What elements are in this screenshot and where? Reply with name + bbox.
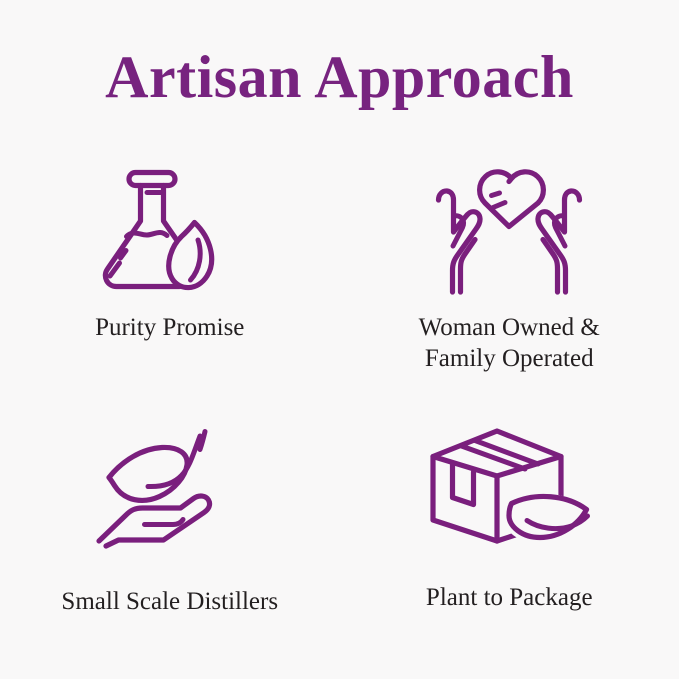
artisan-approach-panel: Artisan Approach bbox=[0, 0, 679, 679]
feature-label: Woman Owned & Family Operated bbox=[419, 312, 600, 374]
feature-label: Small Scale Distillers bbox=[61, 586, 278, 617]
feature-label: Plant to Package bbox=[426, 582, 593, 613]
page-title: Artisan Approach bbox=[0, 44, 679, 110]
flask-leaf-icon bbox=[90, 156, 250, 296]
box-leaf-icon bbox=[429, 414, 589, 554]
feature-box-leaf: Plant to Package bbox=[340, 400, 679, 650]
feature-small-scale-distillers: Small Scale Distillers bbox=[0, 400, 340, 650]
feature-purity-promise: Purity Promise bbox=[0, 150, 340, 400]
hands-heart-icon bbox=[429, 160, 589, 300]
feature-grid: Purity Promise bbox=[0, 150, 679, 650]
feature-woman-owned-family-operated: Woman Owned & Family Operated bbox=[340, 150, 679, 400]
hand-leaf-icon bbox=[90, 418, 250, 558]
feature-label: Purity Promise bbox=[95, 312, 244, 343]
